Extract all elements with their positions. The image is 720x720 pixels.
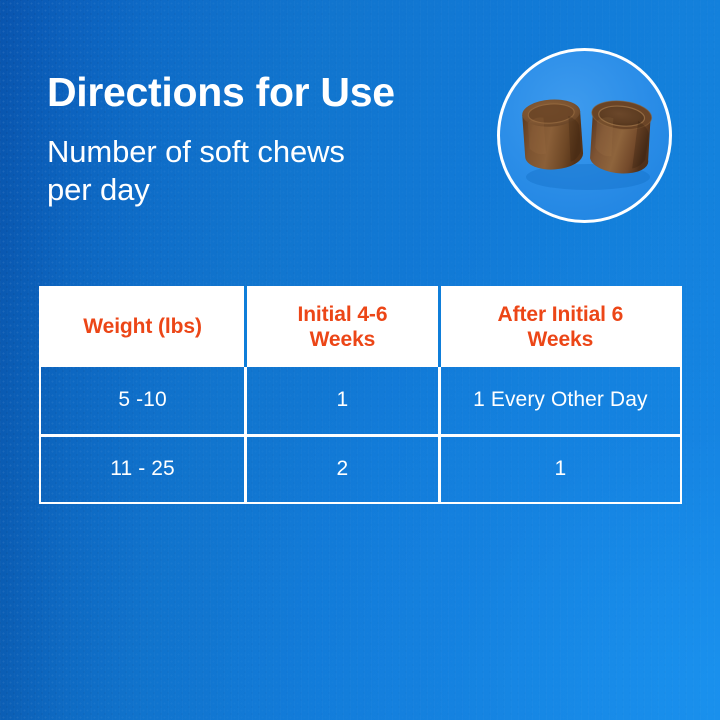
column-header-weight-line-1: Weight (lbs) — [41, 315, 244, 340]
column-header-after-line-1: After Initial 6 — [441, 303, 680, 328]
cell-initial: 1 — [246, 367, 440, 435]
dosing-table: Weight (lbs) Initial 4-6 Weeks After Ini… — [39, 286, 682, 504]
soft-chews-photo — [500, 51, 672, 223]
page-subtitle: Number of soft chews per day — [47, 133, 447, 210]
page-title: Directions for Use — [47, 71, 395, 114]
product-image-circle — [497, 48, 672, 223]
page-subtitle-line-1: Number of soft chews — [47, 133, 447, 171]
table-row: 11 - 25 2 1 — [40, 435, 681, 503]
table-row: 5 -10 1 1 Every Other Day — [40, 367, 681, 435]
column-header-initial-line-1: Initial 4-6 — [247, 303, 438, 328]
column-header-after: After Initial 6 Weeks — [439, 287, 681, 367]
cell-after: 1 Every Other Day — [439, 367, 681, 435]
cell-weight: 11 - 25 — [40, 435, 246, 503]
column-header-weight: Weight (lbs) — [40, 287, 246, 367]
cell-initial: 2 — [246, 435, 440, 503]
directions-for-use-poster: Directions for Use Number of soft chews … — [0, 0, 720, 720]
column-header-after-line-2: Weeks — [441, 328, 680, 353]
column-header-initial: Initial 4-6 Weeks — [246, 287, 440, 367]
page-subtitle-line-2: per day — [47, 171, 447, 209]
table-header-row: Weight (lbs) Initial 4-6 Weeks After Ini… — [40, 287, 681, 367]
column-header-initial-line-2: Weeks — [247, 328, 438, 353]
cell-weight: 5 -10 — [40, 367, 246, 435]
cell-after: 1 — [439, 435, 681, 503]
